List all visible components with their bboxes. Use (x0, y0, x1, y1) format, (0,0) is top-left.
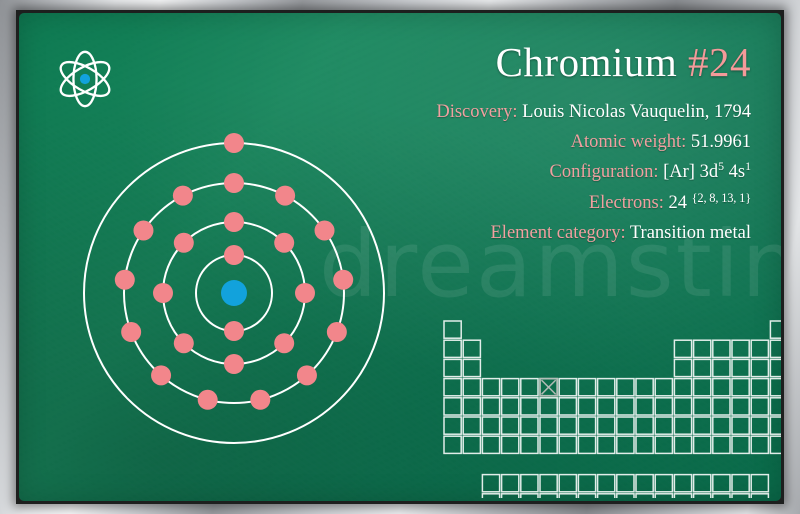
periodic-cell[interactable] (655, 494, 672, 498)
electron-shell3-13 (173, 186, 193, 206)
periodic-cell[interactable] (617, 417, 634, 434)
electron-shell3-9 (151, 365, 171, 385)
periodic-cell[interactable] (751, 475, 768, 492)
periodic-cell[interactable] (521, 436, 538, 453)
periodic-cell[interactable] (713, 417, 730, 434)
periodic-cell[interactable] (713, 359, 730, 376)
periodic-cell[interactable] (463, 417, 480, 434)
electron-shell1-2 (224, 321, 244, 341)
periodic-cell[interactable] (751, 494, 768, 498)
periodic-cell[interactable] (713, 436, 730, 453)
periodic-cell[interactable] (770, 359, 781, 376)
electron-shell2-4 (274, 333, 294, 353)
periodic-cell[interactable] (770, 340, 781, 357)
electron-shell3-5 (327, 322, 347, 342)
periodic-cell[interactable] (770, 436, 781, 453)
periodic-cell[interactable] (636, 379, 653, 396)
periodic-cell[interactable] (502, 417, 519, 434)
periodic-cell[interactable] (732, 359, 749, 376)
periodic-cell[interactable] (598, 436, 615, 453)
periodic-cell[interactable] (732, 379, 749, 396)
periodic-cell[interactable] (540, 494, 557, 498)
periodic-cell[interactable] (521, 494, 538, 498)
periodic-cell[interactable] (482, 494, 499, 498)
periodic-cell[interactable] (655, 436, 672, 453)
periodic-cell[interactable] (559, 475, 576, 492)
bohr-model-svg (74, 133, 394, 453)
periodic-cell[interactable] (636, 417, 653, 434)
periodic-cell[interactable] (694, 340, 711, 357)
periodic-cell[interactable] (444, 398, 461, 415)
periodic-cell[interactable] (732, 417, 749, 434)
periodic-cell[interactable] (732, 475, 749, 492)
periodic-cell[interactable] (482, 417, 499, 434)
electrons-label: Electrons: (589, 193, 664, 213)
periodic-cell[interactable] (674, 340, 691, 357)
periodic-cell[interactable] (559, 494, 576, 498)
periodic-cell[interactable] (578, 398, 595, 415)
periodic-cell[interactable] (674, 475, 691, 492)
periodic-cell[interactable] (559, 417, 576, 434)
periodic-cell[interactable] (578, 494, 595, 498)
periodic-cell[interactable] (674, 398, 691, 415)
configuration-base: [Ar] 3d (663, 162, 718, 182)
periodic-cell[interactable] (463, 436, 480, 453)
electron-shell3-1 (224, 173, 244, 193)
periodic-cell[interactable] (444, 417, 461, 434)
periodic-cell[interactable] (521, 417, 538, 434)
periodic-cell[interactable] (655, 475, 672, 492)
electron-shell1-1 (224, 245, 244, 265)
periodic-cell[interactable] (502, 494, 519, 498)
periodic-cell[interactable] (751, 398, 768, 415)
periodic-cell[interactable] (751, 436, 768, 453)
periodic-cell[interactable] (770, 321, 781, 338)
periodic-cell[interactable] (482, 436, 499, 453)
periodic-cell[interactable] (598, 475, 615, 492)
periodic-cell[interactable] (463, 379, 480, 396)
periodic-cell[interactable] (559, 436, 576, 453)
periodic-cell[interactable] (694, 398, 711, 415)
electrons-value: 24 (668, 193, 687, 213)
periodic-cell[interactable] (732, 494, 749, 498)
periodic-cell[interactable] (713, 340, 730, 357)
periodic-cell[interactable] (598, 379, 615, 396)
electron-shell3-4 (333, 270, 353, 290)
periodic-cell[interactable] (751, 340, 768, 357)
electron-shell2-3 (295, 283, 315, 303)
atom-nucleus (80, 74, 90, 84)
periodic-cell[interactable] (636, 475, 653, 492)
discovery-label: Discovery: (436, 102, 517, 122)
periodic-cell[interactable] (617, 398, 634, 415)
periodic-cell[interactable] (463, 398, 480, 415)
element-infographic: dreamstime● Chromium #24 Discovery: Loui (0, 0, 800, 514)
configuration-mid: 4s (724, 162, 745, 182)
configuration-sup-2: 1 (745, 159, 751, 173)
periodic-cell[interactable] (502, 398, 519, 415)
periodic-cell[interactable] (694, 417, 711, 434)
periodic-cell[interactable] (674, 436, 691, 453)
periodic-cell[interactable] (444, 436, 461, 453)
periodic-cell[interactable] (617, 475, 634, 492)
periodic-cell[interactable] (444, 379, 461, 396)
periodic-cell[interactable] (444, 321, 461, 338)
periodic-cell[interactable] (463, 359, 480, 376)
periodic-cell[interactable] (751, 417, 768, 434)
category-label: Element category: (491, 223, 626, 243)
periodic-cell[interactable] (636, 436, 653, 453)
periodic-cell[interactable] (636, 494, 653, 498)
page-title: Chromium #24 (291, 41, 751, 84)
periodic-cell[interactable] (521, 475, 538, 492)
electron-shell2-2 (274, 233, 294, 253)
bohr-model-diagram (74, 133, 394, 453)
periodic-cell[interactable] (713, 398, 730, 415)
category-value: Transition metal (630, 223, 751, 243)
periodic-cell[interactable] (444, 359, 461, 376)
periodic-cell[interactable] (540, 436, 557, 453)
periodic-cell[interactable] (732, 436, 749, 453)
periodic-cell[interactable] (751, 359, 768, 376)
periodic-cell[interactable] (598, 417, 615, 434)
electron-shell2-5 (224, 354, 244, 374)
periodic-cell[interactable] (463, 340, 480, 357)
periodic-cell[interactable] (444, 340, 461, 357)
bohr-nucleus (221, 280, 247, 306)
periodic-cell[interactable] (540, 417, 557, 434)
periodic-table-svg (443, 320, 781, 498)
periodic-cell[interactable] (521, 398, 538, 415)
periodic-cell[interactable] (694, 436, 711, 453)
periodic-cell[interactable] (674, 494, 691, 498)
electron-shell-distribution: {2, 8, 13, 1} (692, 191, 751, 205)
periodic-cell[interactable] (732, 398, 749, 415)
periodic-cell[interactable] (502, 475, 519, 492)
periodic-cell[interactable] (655, 379, 672, 396)
periodic-cell[interactable] (578, 436, 595, 453)
configuration-label: Configuration: (550, 162, 659, 182)
atomic-number: #24 (688, 39, 751, 85)
periodic-cell[interactable] (770, 379, 781, 396)
electron-shell2-1 (224, 212, 244, 232)
periodic-cell[interactable] (713, 494, 730, 498)
periodic-cell[interactable] (694, 494, 711, 498)
periodic-cell[interactable] (482, 475, 499, 492)
electron-shell3-7 (250, 390, 270, 410)
periodic-cell[interactable] (751, 379, 768, 396)
configuration-value: [Ar] 3d5 4s1 (663, 162, 751, 182)
element-name: Chromium (496, 39, 678, 85)
atom-logo (51, 45, 119, 113)
periodic-cell[interactable] (713, 475, 730, 492)
periodic-cell[interactable] (540, 475, 557, 492)
periodic-cell[interactable] (482, 398, 499, 415)
electron-shell2-7 (153, 283, 173, 303)
electron-shell2-6 (174, 333, 194, 353)
periodic-cell[interactable] (655, 417, 672, 434)
periodic-cell[interactable] (674, 379, 691, 396)
periodic-cell[interactable] (694, 359, 711, 376)
electron-shell3-6 (297, 365, 317, 385)
periodic-cell[interactable] (559, 398, 576, 415)
periodic-cell[interactable] (694, 379, 711, 396)
periodic-cell[interactable] (578, 475, 595, 492)
periodic-cell[interactable] (674, 359, 691, 376)
periodic-cell[interactable] (502, 379, 519, 396)
periodic-cell[interactable] (617, 379, 634, 396)
info-row-discovery: Discovery: Louis Nicolas Vauquelin, 1794 (291, 98, 751, 128)
periodic-cell[interactable] (559, 379, 576, 396)
atomic-weight-value: 51.9961 (691, 132, 751, 152)
periodic-cell[interactable] (770, 417, 781, 434)
periodic-cell[interactable] (598, 494, 615, 498)
periodic-cell[interactable] (598, 398, 615, 415)
periodic-cell[interactable] (617, 436, 634, 453)
atomic-weight-label: Atomic weight: (571, 132, 687, 152)
periodic-cell[interactable] (713, 379, 730, 396)
electron-shell2-8 (174, 233, 194, 253)
electron-shell3-3 (315, 221, 335, 241)
atom-icon (51, 45, 119, 113)
periodic-cell[interactable] (655, 398, 672, 415)
periodic-cell[interactable] (521, 379, 538, 396)
periodic-cell[interactable] (540, 398, 557, 415)
periodic-cell[interactable] (502, 436, 519, 453)
electron-shell3-8 (198, 390, 218, 410)
electron-shell3-12 (133, 221, 153, 241)
periodic-cell[interactable] (617, 494, 634, 498)
electron-shell3-10 (121, 322, 141, 342)
chalkboard-panel: dreamstime● Chromium #24 Discovery: Loui (19, 13, 781, 501)
periodic-cell[interactable] (732, 340, 749, 357)
periodic-table-minimap (443, 320, 781, 498)
discovery-value: Louis Nicolas Vauquelin, 1794 (522, 102, 751, 122)
periodic-cell[interactable] (674, 417, 691, 434)
periodic-cell[interactable] (578, 417, 595, 434)
electron-shell3-11 (115, 270, 135, 290)
periodic-cell[interactable] (770, 398, 781, 415)
periodic-cell[interactable] (694, 475, 711, 492)
periodic-cell[interactable] (636, 398, 653, 415)
electron-shell4-1 (224, 133, 244, 153)
periodic-cell[interactable] (482, 379, 499, 396)
periodic-cell[interactable] (578, 379, 595, 396)
electron-shell3-2 (275, 186, 295, 206)
